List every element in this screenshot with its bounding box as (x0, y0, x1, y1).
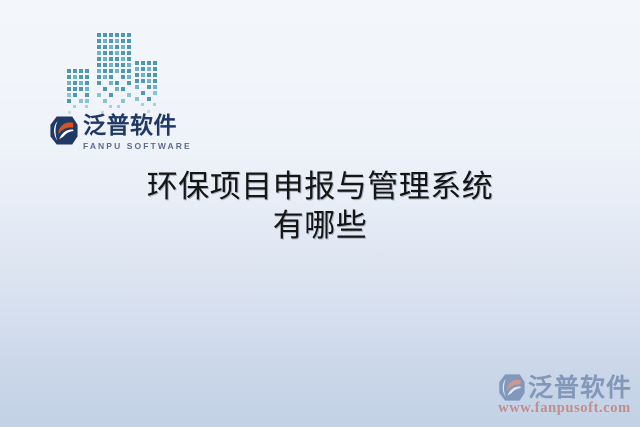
fanpu-watermark-mark-icon (497, 373, 526, 402)
brand-chinese-name: 泛普软件 (83, 114, 192, 139)
pixel-city-skyline-icon (60, 24, 164, 118)
brand-english-name: FANPU SOFTWARE (83, 142, 192, 151)
watermark-chinese-name: 泛普软件 (528, 375, 632, 401)
brand-logo: 泛普软件 FANPU SOFTWARE (48, 114, 192, 151)
fanpu-logo-mark-icon (48, 115, 79, 146)
watermark-url: www.fanpusoft.com (497, 400, 632, 417)
brand-wordmark: 泛普软件 FANPU SOFTWARE (83, 114, 192, 151)
page-title-line-1: 环保项目申报与管理系统 (0, 167, 640, 206)
page-title-line-2: 有哪些 (0, 206, 640, 245)
watermark-logo-row: 泛普软件 (497, 373, 632, 402)
watermark: 泛普软件 www.fanpusoft.com (497, 373, 632, 417)
page-title: 环保项目申报与管理系统 有哪些 (0, 167, 640, 245)
slide-canvas: 泛普软件 FANPU SOFTWARE 环保项目申报与管理系统 有哪些 泛普软件… (0, 0, 640, 427)
